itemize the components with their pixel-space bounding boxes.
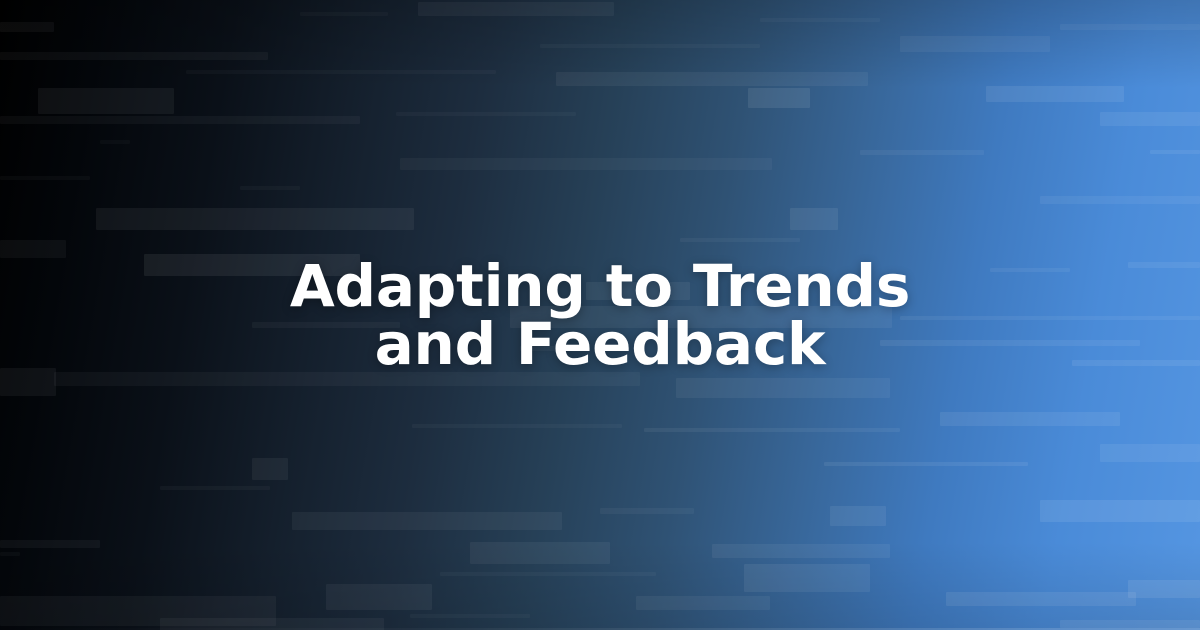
page-title: Adapting to Trends and Feedback — [250, 257, 950, 373]
title-container: Adapting to Trends and Feedback — [0, 0, 1200, 630]
og-banner-card: Adapting to Trends and Feedback — [0, 0, 1200, 630]
